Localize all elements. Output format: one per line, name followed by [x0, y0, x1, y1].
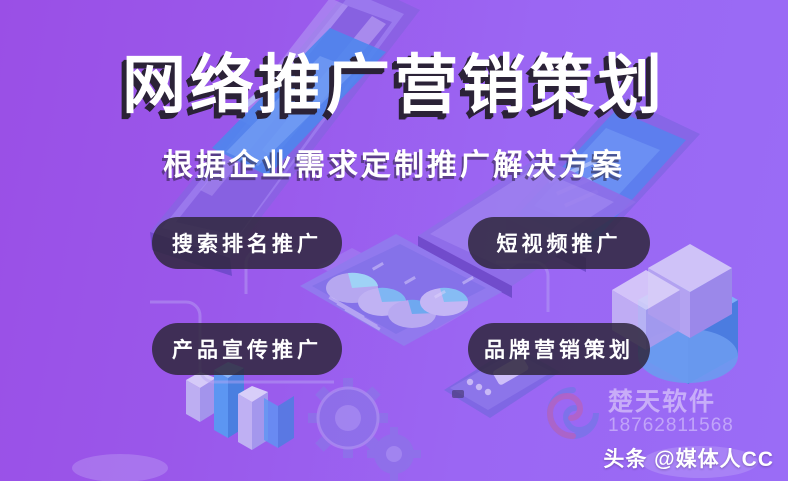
- phone-number: 18762811568: [608, 416, 734, 437]
- headline-container: 网络推广营销策划: [0, 52, 788, 120]
- subheadline-container: 根据企业需求定制推广解决方案: [0, 140, 788, 184]
- company-name: 楚天软件: [608, 389, 734, 416]
- page-subtitle: 根据企业需求定制推广解决方案: [163, 140, 625, 184]
- watermark: 楚天软件 18762811568: [546, 386, 734, 440]
- gears-icon: [308, 378, 421, 481]
- pill-short-video[interactable]: 短视频推广: [468, 217, 650, 269]
- watermark-text: 楚天软件 18762811568: [608, 389, 734, 437]
- pill-product-promotion[interactable]: 产品宣传推广: [152, 323, 342, 375]
- pill-search-ranking[interactable]: 搜索排名推广: [152, 217, 342, 269]
- promo-banner: 网络推广营销策划 根据企业需求定制推广解决方案 搜索排名推广 短视频推广 产品宣…: [0, 0, 788, 481]
- page-title: 网络推广营销策划: [122, 52, 666, 120]
- swirl-logo-icon: [546, 386, 600, 440]
- attribution-text: 头条 @媒体人CC: [603, 443, 774, 473]
- pill-brand-marketing[interactable]: 品牌营销策划: [468, 323, 650, 375]
